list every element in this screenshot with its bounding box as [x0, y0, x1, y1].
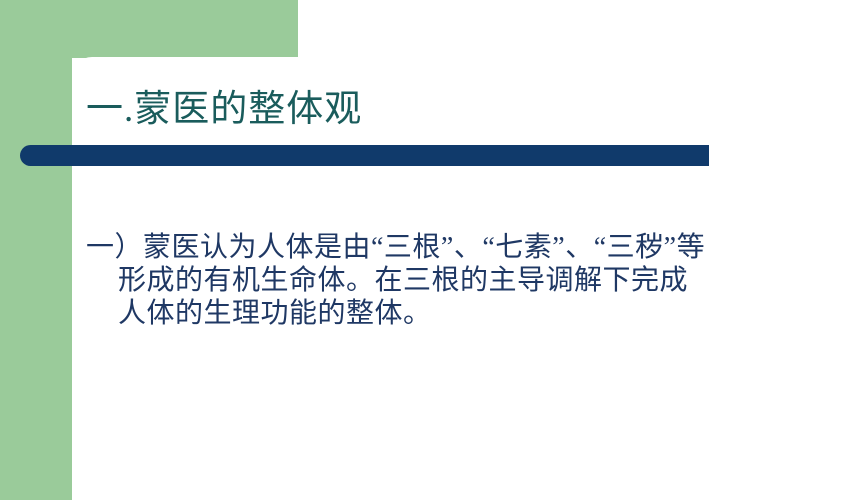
body-line-2: 形成的有机生命体。在三根的主导调解下完成 — [86, 264, 798, 297]
body-line-3: 人体的生理功能的整体。 — [86, 297, 798, 330]
slide-canvas: 一.蒙医的整体观 一）蒙医认为人体是由“三根”、“七素”、“三秽”等 形成的有机… — [0, 0, 850, 500]
title-underline-bar — [20, 145, 709, 166]
slide-body: 一）蒙医认为人体是由“三根”、“七素”、“三秽”等 形成的有机生命体。在三根的主… — [86, 231, 798, 330]
green-left-accent-strip — [0, 0, 72, 500]
green-top-accent-block — [0, 0, 298, 58]
slide-title: 一.蒙医的整体观 — [86, 87, 362, 133]
body-line-1: 一）蒙医认为人体是由“三根”、“七素”、“三秽”等 — [86, 231, 798, 264]
